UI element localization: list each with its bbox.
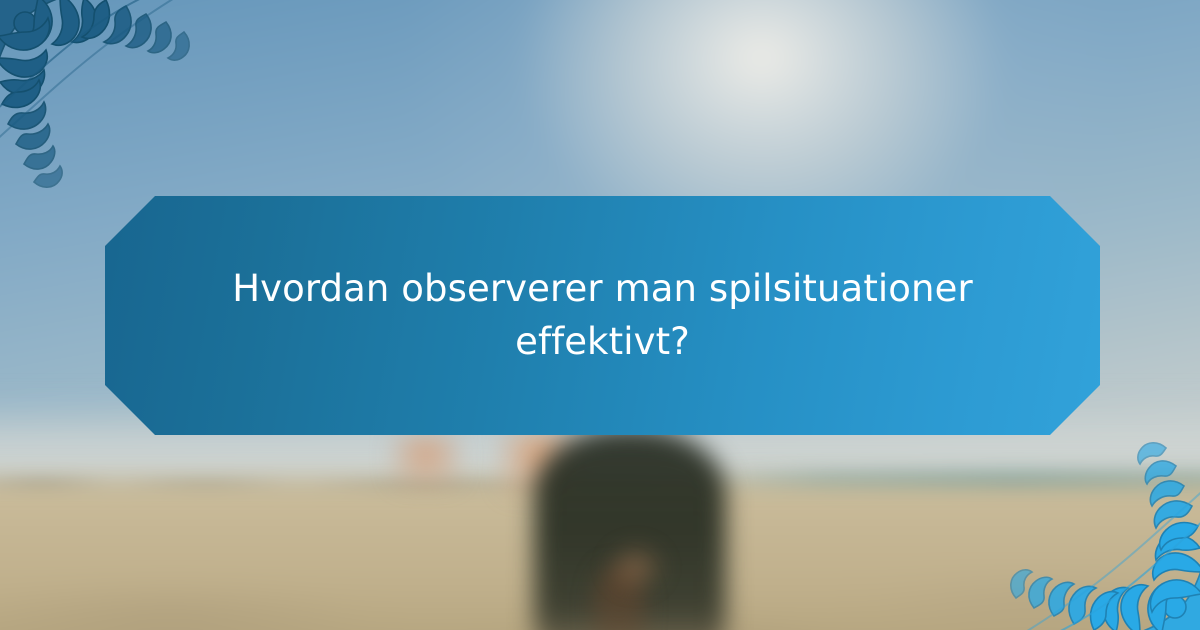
- title-banner: Hvordan observerer man spilsituationer e…: [105, 196, 1100, 435]
- share-card: Hvordan observerer man spilsituationer e…: [0, 0, 1200, 630]
- page-title: Hvordan observerer man spilsituationer e…: [163, 263, 1043, 368]
- background-figure-legs-skin: [606, 542, 666, 592]
- background-arm-left: [390, 432, 462, 489]
